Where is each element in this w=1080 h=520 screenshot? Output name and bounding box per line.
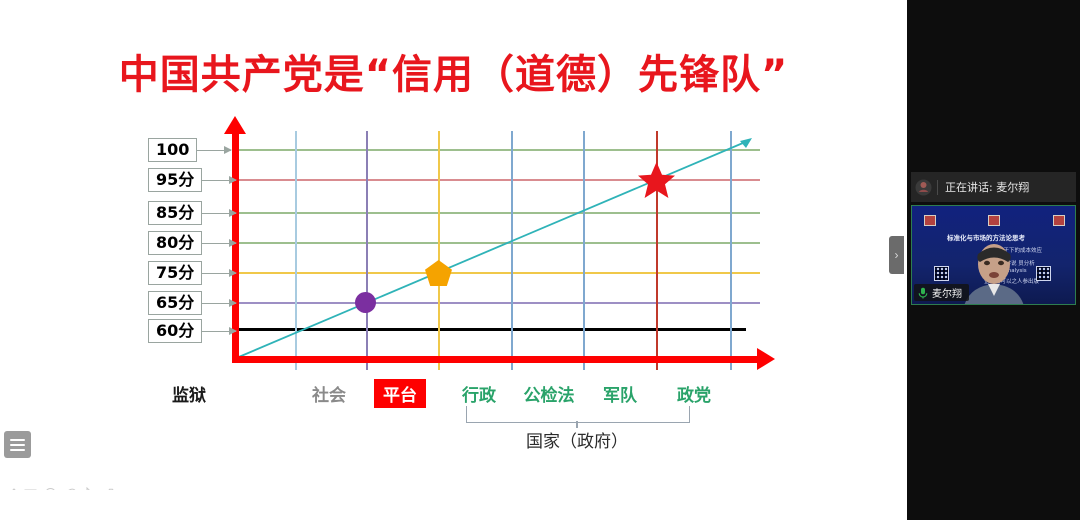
y-axis-arrow-icon xyxy=(224,116,246,134)
shape-icon[interactable] xyxy=(44,487,57,490)
highlighter-icon[interactable] xyxy=(64,487,77,490)
xlabel-administration: 行政 xyxy=(462,381,496,406)
xlabel-judiciary: 公检法 xyxy=(524,381,575,406)
ytick-80: 80分 xyxy=(148,231,236,255)
ytick-label: 65分 xyxy=(148,291,202,315)
ytick-60: 60分 xyxy=(148,319,236,343)
ytick-75: 75分 xyxy=(148,261,236,285)
ytick-arrow-icon xyxy=(202,243,236,244)
ytick-arrow-icon xyxy=(202,213,236,214)
ytick-95: 95分 xyxy=(148,168,236,192)
x-axis-arrow-icon xyxy=(757,348,775,370)
camera-icon[interactable] xyxy=(104,487,118,490)
menu-line xyxy=(10,439,25,441)
slide-stage: 中国共产党是“信用（道德）先锋队” 100 xyxy=(0,0,907,490)
chevron-right-icon: › xyxy=(895,249,899,261)
menu-line xyxy=(10,449,25,451)
ytick-arrow-icon xyxy=(202,273,236,274)
microphone-icon xyxy=(918,287,928,299)
collapse-panel-button[interactable]: › xyxy=(889,236,904,274)
active-speaker-bar: 正在讲话: 麦尔翔 xyxy=(911,172,1076,202)
xlabel-party: 政党 xyxy=(677,381,711,406)
ytick-label: 85分 xyxy=(148,201,202,225)
ytick-label: 80分 xyxy=(148,231,202,255)
slide-seal-icon xyxy=(988,215,1000,226)
cursor-icon[interactable] xyxy=(84,487,97,490)
state-bracket-label: 国家（政府） xyxy=(526,427,628,452)
annotation-toolbar[interactable] xyxy=(4,487,118,490)
video-feed: 标准化与市场的方法论思考 基于下的成本效应 子学说 员分析 Analysis 企… xyxy=(912,206,1075,304)
speaker-divider xyxy=(937,180,938,195)
slide-qr-icon xyxy=(934,266,949,281)
xlabel-platform: 平台 xyxy=(374,379,426,408)
xlabel-prison: 监狱 xyxy=(172,381,206,406)
slide-qr-icon xyxy=(1036,266,1051,281)
slide-seal-icon xyxy=(1053,215,1065,226)
ytick-arrow-icon xyxy=(202,303,236,304)
x-axis xyxy=(232,356,760,363)
trend-line xyxy=(232,128,760,361)
ytick-label: 100 xyxy=(148,138,197,162)
credit-level-chart: 100 95分 85分 80分 75分 65分 60分 xyxy=(0,0,907,470)
ytick-arrow-icon xyxy=(202,331,236,332)
ytick-label: 75分 xyxy=(148,261,202,285)
slide-seal-icon xyxy=(924,215,936,226)
ytick-100: 100 xyxy=(148,138,231,162)
ytick-85: 85分 xyxy=(148,201,236,225)
state-bracket xyxy=(466,406,690,423)
speaker-avatar-icon xyxy=(915,179,932,196)
participant-name: 麦尔翔 xyxy=(932,285,962,300)
participant-name-chip: 麦尔翔 xyxy=(914,284,969,301)
pen-icon[interactable] xyxy=(4,487,17,490)
xlabel-army: 军队 xyxy=(603,381,637,406)
ytick-arrow-icon xyxy=(202,180,236,181)
ytick-label: 60分 xyxy=(148,319,202,343)
data-point-platform xyxy=(425,260,452,286)
data-point-army xyxy=(638,162,675,198)
ytick-label: 95分 xyxy=(148,168,202,192)
xlabel-society: 社会 xyxy=(312,381,346,406)
ytick-arrow-icon xyxy=(197,150,231,151)
slide-menu-button[interactable] xyxy=(4,431,31,458)
data-point-market xyxy=(355,292,376,313)
menu-line xyxy=(10,444,25,446)
text-icon[interactable] xyxy=(24,487,37,490)
participant-video-tile[interactable]: 标准化与市场的方法论思考 基于下的成本效应 子学说 员分析 Analysis 企… xyxy=(911,205,1076,305)
ytick-65: 65分 xyxy=(148,291,236,315)
active-speaker-label: 正在讲话: 麦尔翔 xyxy=(945,179,1029,195)
